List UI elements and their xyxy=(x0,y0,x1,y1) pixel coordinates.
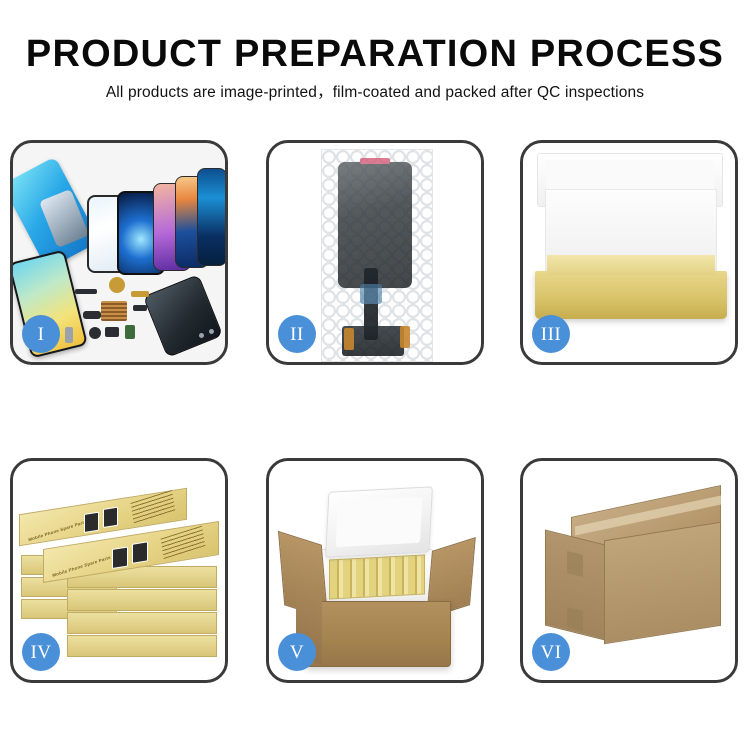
step-badge-3: III xyxy=(532,315,570,353)
gold-flex-part-icon xyxy=(131,291,149,297)
carton-right-face xyxy=(604,522,721,645)
speaker-part-icon xyxy=(89,327,101,339)
process-step-panel-6: VI xyxy=(520,458,738,683)
lid-phone-graphic xyxy=(132,541,148,564)
stacked-box-layer xyxy=(67,635,217,657)
stacked-box-layer xyxy=(67,589,217,611)
kraft-box-tray-icon xyxy=(535,271,727,319)
antenna-part-icon xyxy=(133,305,147,311)
lid-text-lines xyxy=(161,526,206,560)
box-lid-label: Mobile Phone Spare Parts xyxy=(28,519,87,542)
connector-grid-part-icon xyxy=(101,301,127,321)
button-part-icon xyxy=(105,327,119,337)
screw-part-icon xyxy=(209,329,214,334)
step-badge-5: V xyxy=(278,633,316,671)
lid-phone-graphic xyxy=(84,512,99,533)
gold-tab-icon xyxy=(400,326,410,348)
phone-backplate-icon xyxy=(143,274,223,358)
gold-coin-part-icon xyxy=(109,277,125,293)
gold-tab-icon xyxy=(344,328,354,350)
step-badge-1: I xyxy=(22,315,60,353)
step-badge-2: II xyxy=(278,315,316,353)
tape-tab-lower xyxy=(567,607,583,631)
page-subtitle: All products are image-printed，film-coat… xyxy=(0,83,750,103)
screw-part-icon xyxy=(199,333,204,338)
lid-phone-graphic xyxy=(103,507,118,528)
process-step-panel-3: III xyxy=(520,140,738,365)
gold-boxes-inside-icon xyxy=(329,554,425,599)
tape-tab-upper xyxy=(567,551,583,577)
flex-strip-part-icon xyxy=(75,289,97,294)
sim-tray-part-icon xyxy=(65,327,73,343)
lid-phone-graphic xyxy=(112,546,128,569)
process-step-panel-4: Mobile Phone Spare Parts Mobile Phone Sp… xyxy=(10,458,228,683)
step-badge-6: VI xyxy=(532,633,570,671)
shipping-carton-icon xyxy=(545,501,721,637)
process-step-panel-5: V xyxy=(266,458,484,683)
page-header: PRODUCT PREPARATION PROCESS All products… xyxy=(0,0,750,125)
stacked-box-layer xyxy=(67,612,217,634)
process-step-grid: I II III xyxy=(10,140,740,683)
process-step-panel-1: I xyxy=(10,140,228,365)
page-title: PRODUCT PREPARATION PROCESS xyxy=(0,34,750,74)
camera-module-part-icon xyxy=(83,311,101,319)
battery-part-icon xyxy=(125,325,135,339)
dark-blue-phone-screen-icon xyxy=(197,168,225,266)
step-badge-4: IV xyxy=(22,633,60,671)
process-step-panel-2: II xyxy=(266,140,484,365)
carton-front-wall xyxy=(305,601,451,667)
foam-cooler-lid-icon xyxy=(325,486,433,557)
bubble-wrap-bag-icon xyxy=(321,149,433,362)
lid-text-lines xyxy=(131,490,176,524)
